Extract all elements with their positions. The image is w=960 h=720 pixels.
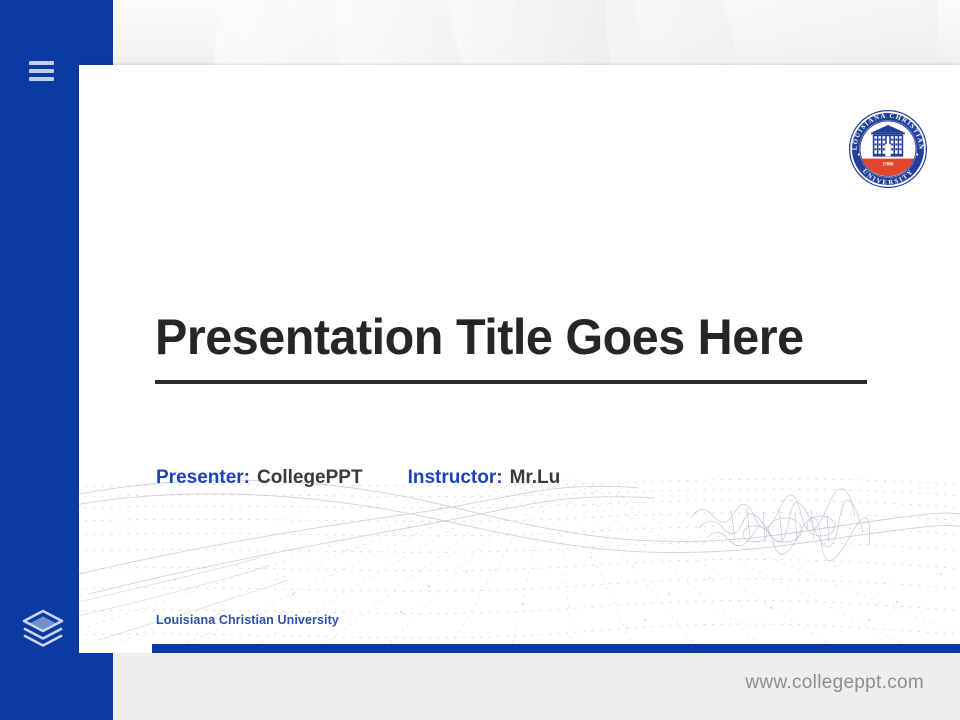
hamburger-icon[interactable] xyxy=(29,61,54,81)
presenter-label: Presenter: xyxy=(156,467,250,489)
title-block: Presentation Title Goes Here xyxy=(155,307,867,384)
hamburger-bar xyxy=(29,77,54,81)
hamburger-bar xyxy=(29,61,54,65)
hamburger-bar xyxy=(29,69,54,73)
slide-footer-university-name: Louisiana Christian University xyxy=(156,613,339,627)
presenter-instructor-row: Presenter: CollegePPT Instructor: Mr.Lu xyxy=(156,467,560,489)
site-url: www.collegeppt.com xyxy=(745,672,924,694)
background-top-band xyxy=(0,0,960,66)
layers-icon[interactable] xyxy=(19,604,67,652)
svg-text:1906: 1906 xyxy=(882,161,893,167)
presenter-value: CollegePPT xyxy=(257,467,363,489)
page-title: Presentation Title Goes Here xyxy=(155,307,846,367)
title-underline xyxy=(155,380,867,384)
university-seal-icon: 1906 xyxy=(848,109,928,189)
instructor-label: Instructor: xyxy=(408,467,503,489)
app-root: 1906 xyxy=(0,0,960,720)
instructor-value: Mr.Lu xyxy=(510,467,561,489)
slide-accent-bar xyxy=(152,644,960,653)
slide-canvas: 1906 xyxy=(79,65,960,653)
